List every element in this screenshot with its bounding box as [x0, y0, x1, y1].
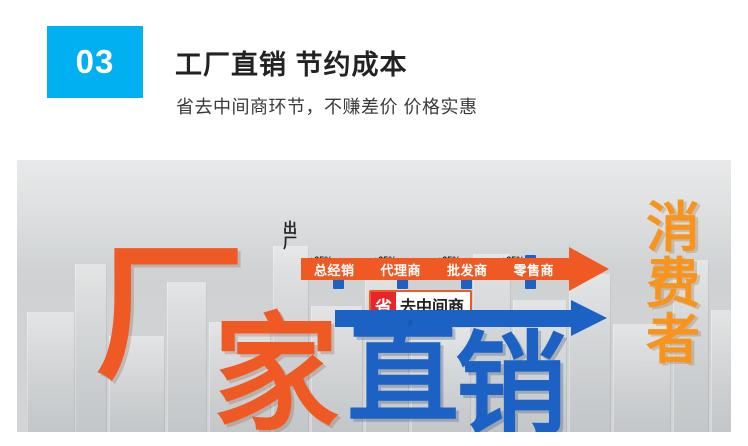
promo-page: 03 工厂直销 节约成本 省去中间商环节，不赚差价 价格实惠 出 厂 +25%: [0, 0, 748, 446]
section-number: 03: [76, 43, 115, 81]
page-title: 工厂直销 节约成本: [175, 43, 408, 82]
middlemen-label-row: 总经销 代理商 批发商 零售商: [301, 259, 567, 279]
consumer-char-2: 费: [641, 256, 705, 312]
middleman-label-4: 零售商: [501, 260, 568, 279]
consumer-char-1: 消: [641, 200, 705, 256]
direct-sale-char-1: 直: [347, 318, 459, 430]
section-number-badge: 03: [47, 26, 143, 98]
middleman-label-2: 代理商: [368, 260, 435, 279]
factory-exit-label: 出 厂: [281, 222, 299, 251]
middlemen-arrow-head-icon: [569, 247, 609, 291]
page-subtitle: 省去中间商环节，不赚差价 价格实惠: [176, 93, 478, 119]
direct-sale-arrow-head-icon: [571, 300, 607, 336]
consumer-label: 消 费 者: [641, 200, 705, 368]
banner-illustration: 出 厂 +25% +25% +25% +25% 总经销 代理商 批发商 零售商 …: [17, 160, 731, 432]
factory-exit-char-1: 出: [281, 222, 299, 237]
consumer-char-3: 者: [641, 312, 705, 368]
middleman-label-1: 总经销: [301, 260, 368, 279]
direct-sale-char-2: 销: [455, 330, 567, 432]
middleman-label-3: 批发商: [434, 260, 501, 279]
section-header: 03 工厂直销 节约成本 省去中间商环节，不赚差价 价格实惠: [0, 0, 748, 150]
factory-char-2: 家: [213, 312, 339, 432]
factory-exit-char-2: 厂: [281, 237, 299, 252]
